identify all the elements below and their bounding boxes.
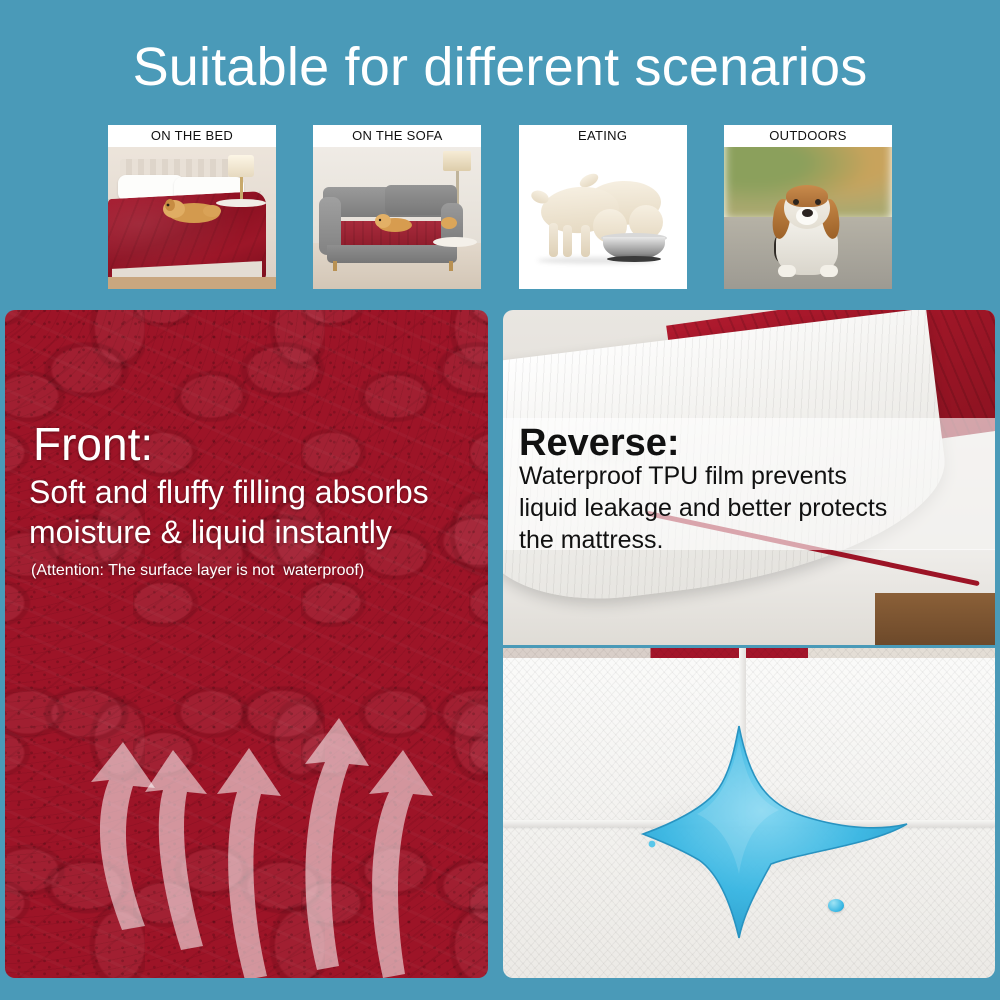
small-liquid-droplet-icon xyxy=(828,899,844,912)
reverse-body-line-2: liquid leakage and better protects xyxy=(519,492,919,524)
scenario-card-on-the-sofa[interactable]: ON THE SOFA xyxy=(313,125,481,289)
puppies-eating-photo xyxy=(519,125,687,289)
scenario-card-on-the-bed[interactable]: ON THE BED xyxy=(108,125,276,289)
golden-retriever-icon xyxy=(108,125,276,289)
scenario-label-on-the-bed: ON THE BED xyxy=(108,125,276,147)
scenario-label-on-the-sofa: ON THE SOFA xyxy=(313,125,481,147)
absorption-arrows-icon xyxy=(5,310,488,978)
bedroom-photo xyxy=(108,125,276,289)
scenario-label-eating: EATING xyxy=(519,125,687,147)
waterproof-demo-panel xyxy=(503,648,995,978)
reverse-body-line-3: the mattress. xyxy=(519,524,919,556)
front-heading: Front: xyxy=(33,418,153,470)
front-body: Soft and fluffy filling absorbs moisture… xyxy=(29,472,479,552)
feature-panels: Front: Soft and fluffy filling absorbs m… xyxy=(5,310,995,978)
sofa-photo xyxy=(313,125,481,289)
reverse-feature-panel: Reverse: Waterproof TPU film prevents li… xyxy=(503,310,995,645)
dog-on-sofa-icon xyxy=(313,125,481,289)
scenario-card-eating[interactable]: EATING xyxy=(519,125,687,289)
reverse-heading: Reverse: xyxy=(519,422,680,464)
front-body-line-1: Soft and fluffy filling absorbs xyxy=(29,472,479,512)
page-title: Suitable for different scenarios xyxy=(0,36,1000,98)
scenario-label-outdoors: OUTDOORS xyxy=(724,125,892,147)
reverse-body: Waterproof TPU film prevents liquid leak… xyxy=(519,460,919,556)
reverse-body-line-1: Waterproof TPU film prevents xyxy=(519,460,919,492)
front-attention-note: (Attention: The surface layer is not wat… xyxy=(31,560,364,582)
front-feature-panel: Front: Soft and fluffy filling absorbs m… xyxy=(5,310,488,978)
scenario-thumbnail-row: ON THE BED ON THE SOFA xyxy=(108,125,892,289)
blue-liquid-puddle-icon xyxy=(503,648,995,978)
beagle-outdoors-photo xyxy=(724,125,892,289)
front-body-line-2: moisture & liquid instantly xyxy=(29,512,479,552)
scenario-card-outdoors[interactable]: OUTDOORS xyxy=(724,125,892,289)
